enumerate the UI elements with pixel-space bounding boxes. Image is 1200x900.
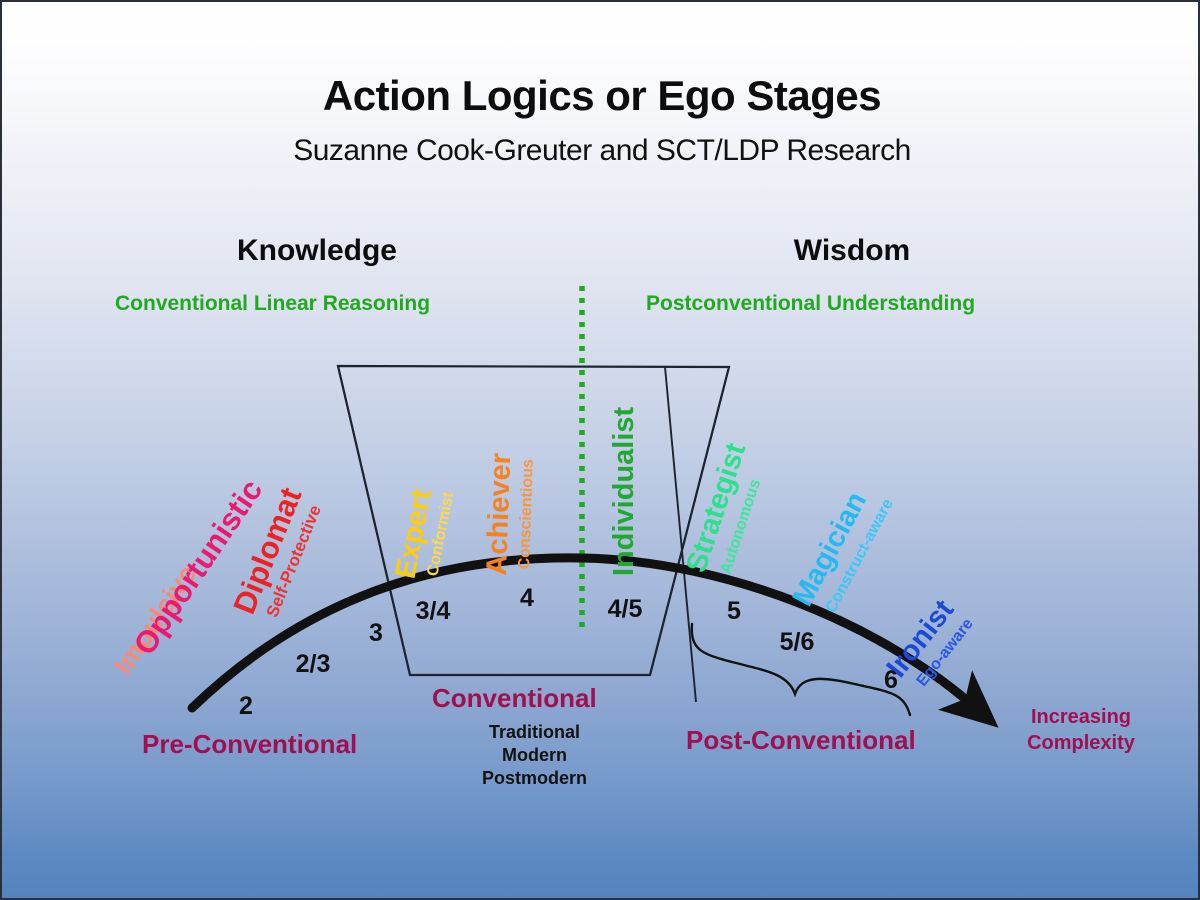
arc-number-4: 4	[510, 584, 544, 613]
stage-label-achiever: Achiever	[483, 453, 516, 576]
arc-number-3-4: 3/4	[398, 597, 468, 626]
stage-name-individualist: Individualist	[610, 407, 639, 576]
slide-canvas: Action Logics or Ego Stages Suzanne Cook…	[0, 0, 1200, 900]
arc-number-2-3: 2/3	[283, 650, 343, 679]
band-label-pre-conventional: Pre-Conventional	[142, 729, 357, 760]
arc-number-5-6: 5/6	[762, 628, 832, 657]
band-label-conventional: Conventional	[432, 683, 597, 714]
arc-number-6: 6	[874, 666, 908, 695]
increasing-complexity-label: IncreasingComplexity	[1006, 704, 1156, 757]
arc-number-2: 2	[229, 692, 263, 721]
arc-number-3: 3	[359, 619, 393, 648]
conventional-sublabels: TraditionalModernPostmodern	[432, 721, 637, 790]
arc-number-5: 5	[717, 597, 751, 626]
arc-number-4-5: 4/5	[590, 595, 660, 624]
band-label-post-conventional: Post-Conventional	[686, 725, 916, 756]
stage-name-achiever: Achiever	[483, 453, 516, 576]
stage-label-individualist: Individualist	[610, 407, 639, 576]
